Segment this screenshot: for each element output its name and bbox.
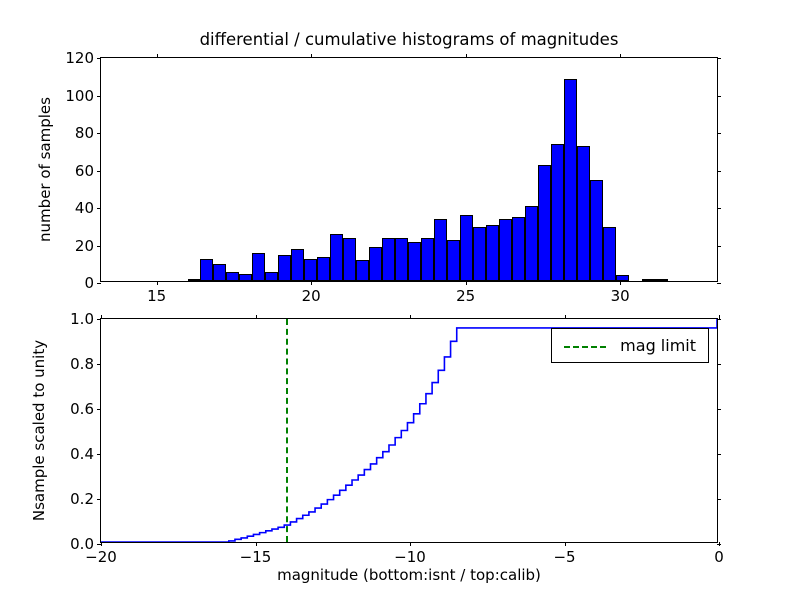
histogram-bar — [486, 225, 499, 281]
x-tick-label: 20 — [302, 287, 321, 305]
histogram-bar — [590, 180, 603, 281]
y-tick-mark — [717, 283, 721, 284]
x-tick-mark — [157, 54, 158, 58]
y-tick-mark — [717, 171, 721, 172]
x-tick-label: −15 — [240, 548, 272, 566]
x-tick-mark — [311, 54, 312, 58]
histogram-bar — [291, 249, 304, 281]
histogram-bar — [369, 247, 382, 281]
x-tick-mark — [620, 54, 621, 58]
x-tick-mark — [565, 542, 566, 546]
y-tick-mark — [717, 364, 721, 365]
histogram-bar — [304, 259, 317, 282]
y-tick-mark — [97, 246, 101, 247]
histogram-bar — [213, 264, 226, 281]
y-tick-label: 0.2 — [70, 490, 94, 508]
x-tick-mark — [256, 315, 257, 319]
histogram-bar — [395, 238, 408, 281]
x-tick-label: −20 — [85, 548, 117, 566]
y-tick-mark — [97, 364, 101, 365]
histogram-bar — [239, 274, 252, 282]
x-tick-mark — [466, 54, 467, 58]
x-tick-mark — [256, 542, 257, 546]
y-tick-label: 60 — [75, 162, 94, 180]
mag-limit-line-icon — [564, 340, 606, 352]
mag-limit-vline — [286, 319, 288, 542]
histogram-bar — [356, 260, 369, 281]
histogram-bar — [642, 279, 655, 281]
y-tick-mark — [717, 499, 721, 500]
y-tick-mark — [97, 208, 101, 209]
y-tick-label: 100 — [65, 87, 94, 105]
x-tick-label: −5 — [553, 548, 575, 566]
y-tick-mark — [97, 409, 101, 410]
histogram-bar — [434, 219, 447, 281]
histogram-bar — [616, 275, 629, 281]
histogram-bar — [278, 255, 291, 281]
y-tick-mark — [717, 96, 721, 97]
y-tick-mark — [717, 133, 721, 134]
x-tick-mark — [101, 315, 102, 319]
y-tick-mark — [97, 283, 101, 284]
top-y-axis-label: number of samples — [36, 57, 54, 282]
x-tick-mark — [466, 281, 467, 285]
x-tick-mark — [157, 281, 158, 285]
top-histogram-axes: 020406080100120 15202530 — [100, 57, 718, 282]
histogram-bar — [226, 272, 239, 281]
histogram-bar — [317, 257, 330, 281]
y-tick-mark — [97, 499, 101, 500]
x-tick-label: 30 — [611, 287, 630, 305]
histogram-bar — [538, 165, 551, 281]
x-tick-mark — [719, 315, 720, 319]
y-tick-mark — [97, 96, 101, 97]
histogram-bar — [551, 144, 564, 281]
histogram-bar — [577, 146, 590, 281]
y-tick-label: 0 — [84, 274, 94, 292]
x-tick-mark — [410, 315, 411, 319]
x-tick-mark — [620, 281, 621, 285]
y-tick-mark — [97, 319, 101, 320]
y-tick-label: 0.4 — [70, 445, 94, 463]
y-tick-mark — [717, 319, 721, 320]
bottom-x-axis-label: magnitude (bottom:isnt / top:calib) — [100, 566, 718, 584]
y-tick-mark — [97, 133, 101, 134]
histogram-bar — [188, 279, 201, 281]
bottom-cumulative-axes: 0.00.20.40.60.81.0 −20−15−10−50 mag limi… — [100, 318, 718, 543]
histogram-bar — [460, 215, 473, 281]
histogram-bar — [564, 79, 577, 282]
x-tick-mark — [719, 542, 720, 546]
histogram-bar — [655, 279, 668, 281]
x-tick-label: 0 — [714, 548, 724, 566]
y-tick-mark — [97, 58, 101, 59]
y-tick-label: 40 — [75, 199, 94, 217]
histogram-bar — [252, 253, 265, 281]
histogram-bar — [200, 259, 213, 282]
x-tick-mark — [311, 281, 312, 285]
x-tick-mark — [565, 315, 566, 319]
x-tick-label: −10 — [394, 548, 426, 566]
histogram-bar — [408, 242, 421, 281]
x-tick-mark — [410, 542, 411, 546]
x-tick-mark — [101, 542, 102, 546]
histogram-bar — [499, 219, 512, 281]
histogram-bar — [343, 238, 356, 281]
histogram-bar — [603, 227, 616, 281]
y-tick-label: 0.8 — [70, 355, 94, 373]
y-tick-mark — [97, 454, 101, 455]
histogram-bar — [330, 234, 343, 281]
y-tick-label: 0.6 — [70, 400, 94, 418]
y-tick-label: 80 — [75, 124, 94, 142]
bottom-y-axis-label: Nsample scaled to unity — [30, 318, 48, 543]
y-tick-mark — [717, 454, 721, 455]
histogram-bar — [512, 217, 525, 281]
page-title: differential / cumulative histograms of … — [100, 30, 718, 49]
histogram-bar — [265, 272, 278, 281]
y-tick-label: 1.0 — [70, 310, 94, 328]
y-tick-label: 120 — [65, 49, 94, 67]
x-tick-label: 25 — [456, 287, 475, 305]
y-tick-mark — [97, 171, 101, 172]
top-plot-area — [101, 58, 717, 281]
y-tick-mark — [717, 58, 721, 59]
y-tick-label: 20 — [75, 237, 94, 255]
histogram-bar — [447, 240, 460, 281]
histogram-bar — [525, 206, 538, 281]
histogram-bar — [473, 227, 486, 281]
histogram-bar — [421, 238, 434, 281]
x-tick-label: 15 — [147, 287, 166, 305]
histogram-bar — [382, 238, 395, 281]
y-tick-mark — [717, 208, 721, 209]
y-tick-mark — [717, 409, 721, 410]
y-tick-mark — [717, 246, 721, 247]
figure-canvas: differential / cumulative histograms of … — [0, 0, 800, 600]
legend: mag limit — [551, 328, 709, 363]
legend-entry-label: mag limit — [620, 336, 696, 355]
